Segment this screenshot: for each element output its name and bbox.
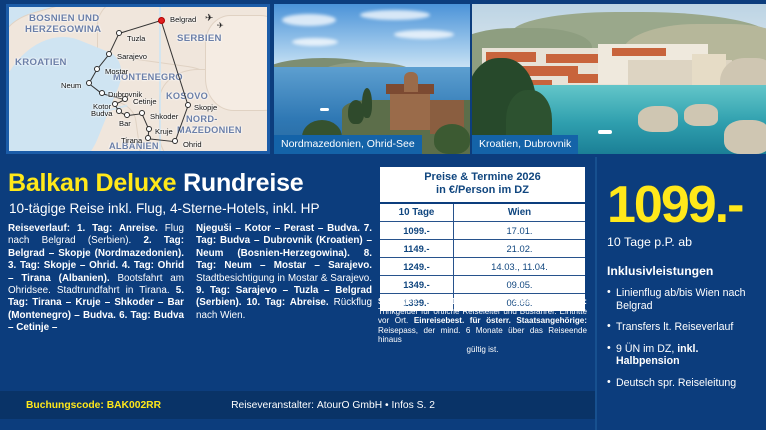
media-row: BOSNIEN UNDHERZEGOWINAKROATIENSERBIENMON…: [0, 0, 766, 157]
map-city-dot: [172, 138, 178, 144]
route-map: BOSNIEN UNDHERZEGOWINAKROATIENSERBIENMON…: [6, 4, 270, 154]
cell-price: 1149.-: [379, 240, 454, 258]
photo-rooftops: [612, 48, 666, 56]
cell-dates: 14.03., 11.04.: [454, 258, 586, 276]
cloud-shape: [282, 14, 336, 26]
photo-tree: [348, 100, 364, 124]
photo-church-tower: [404, 72, 418, 92]
map-country-label: BOSNIEN UND: [29, 13, 99, 24]
photo-rock-island: [724, 120, 766, 154]
fineprint: Sonstiges: MTZ: 10 Personen. Zusatzkoste…: [378, 297, 587, 355]
booking-code-value: BAK002RR: [107, 400, 161, 411]
airplane-icon: ✈: [217, 21, 224, 30]
operator-label: Reiseveranstalter:: [231, 400, 314, 411]
itinerary-column-2: Njeguši – Kotor – Perast – Budva. 7. Tag…: [196, 223, 372, 322]
table-title-row: Preise & Termine 2026 in €/Person im DZ: [379, 166, 586, 203]
column-header-days: 10 Tage: [379, 203, 454, 222]
page-subtitle: 10-tägige Reise inkl. Flug, 4-Sterne-Hot…: [9, 201, 320, 216]
map-city-label: Bar: [119, 119, 131, 128]
map-city-label: Mostar: [105, 67, 128, 76]
map-city-dot: [145, 135, 151, 141]
map-landmass: [205, 15, 270, 111]
map-city-dot: [86, 80, 92, 86]
table-title-line1: Preise & Termine 2026: [424, 171, 541, 183]
cell-price: 1349.-: [379, 276, 454, 294]
map-country-label: NORD-: [186, 114, 218, 124]
inclusions-title: Inklusivleistungen: [607, 264, 756, 278]
column-header-departure: Wien: [454, 203, 586, 222]
map-city-dot: [146, 126, 152, 132]
table-row: 1099.-17.01.: [379, 222, 586, 240]
map-country-label: KOSOVO: [166, 91, 208, 101]
inclusion-item: Transfers lt. Reiseverlauf: [607, 321, 756, 334]
photo-tree: [434, 124, 470, 154]
photo-rock-island: [638, 106, 678, 132]
map-city-dot: [99, 90, 105, 96]
map-city-label: Ohrid: [183, 140, 202, 149]
table-title-line2: in €/Person im DZ: [436, 184, 529, 196]
map-city-label: Tirana: [121, 136, 142, 145]
price-amount: 1099.-: [607, 179, 756, 231]
offer-body: Balkan Deluxe Rundreise 10-tägige Reise …: [0, 157, 595, 389]
cell-price: 1099.-: [379, 222, 454, 240]
booking-code: Buchungscode: BAK002RR: [26, 400, 161, 411]
title-highlight: Balkan Deluxe: [8, 169, 176, 197]
map-country-label: MAZEDONIEN: [177, 125, 242, 135]
cell-dates: 17.01.: [454, 222, 586, 240]
table-row: 1249.-14.03., 11.04.: [379, 258, 586, 276]
map-city-label: Cetinje: [133, 97, 157, 106]
map-city-dot: [122, 96, 128, 102]
map-city-dot: [94, 66, 100, 72]
map-city-label: Budva: [91, 109, 113, 118]
map-city-dot: [185, 102, 191, 108]
table-header-row: 10 Tage Wien: [379, 203, 586, 222]
tour-operator: Reiseveranstalter: AtourO GmbH • Infos S…: [231, 400, 435, 411]
price-table: Preise & Termine 2026 in €/Person im DZ …: [378, 165, 587, 313]
itinerary-columns: Reiseverlauf: 1. Tag: Anreise. Flug nach…: [8, 223, 372, 335]
map-country-label: SERBIEN: [177, 33, 222, 44]
map-city-dot: [112, 101, 118, 107]
booking-code-label: Buchungscode:: [26, 400, 104, 411]
itinerary-column-1: Reiseverlauf: 1. Tag: Anreise. Flug nach…: [8, 223, 184, 335]
inclusion-item: 9 ÜN im DZ, inkl. Halbpension: [607, 343, 756, 368]
map-city-dot: [116, 30, 122, 36]
airplane-icon: ✈: [205, 13, 213, 24]
cloud-shape: [394, 30, 454, 39]
map-country-label: KROATIEN: [15, 57, 67, 68]
map-city-label: Neum: [61, 81, 81, 90]
price-table-wrap: Preise & Termine 2026 in €/Person im DZ …: [378, 165, 587, 313]
map-canvas: BOSNIEN UNDHERZEGOWINAKROATIENSERBIENMON…: [9, 7, 267, 151]
advertisement-page: BOSNIEN UNDHERZEGOWINAKROATIENSERBIENMON…: [0, 0, 766, 430]
photo-caption: Kroatien, Dubrovnik: [472, 135, 578, 154]
map-city-dot: [158, 17, 165, 24]
cell-dates: 21.02.: [454, 240, 586, 258]
photo-ohrid: Nordmazedonien, Ohrid-See: [274, 4, 470, 154]
cloud-shape: [292, 38, 338, 46]
photo-boat: [320, 108, 329, 111]
cell-dates: 09.05.: [454, 276, 586, 294]
inclusions-list: Linienflug ab/bis Wien nach BelgradTrans…: [607, 287, 756, 390]
photo-dubrovnik: Kroatien, Dubrovnik: [472, 4, 766, 154]
map-city-label: Belgrad: [170, 15, 196, 24]
price-panel: 1099.- 10 Tage p.P. ab Inklusivleistunge…: [595, 157, 766, 430]
map-country-label: HERZEGOWINA: [25, 24, 101, 35]
inclusion-item: Linienflug ab/bis Wien nach Belgrad: [607, 287, 756, 312]
map-city-label: Kruje: [155, 127, 173, 136]
inclusion-item: Deutsch spr. Reiseleitung: [607, 377, 756, 390]
map-city-dot: [124, 112, 130, 118]
photo-church: [390, 90, 430, 130]
page-title: Balkan Deluxe Rundreise: [8, 169, 304, 198]
booking-bar: Buchungscode: BAK002RR Reiseveranstalter…: [0, 391, 595, 419]
table-title: Preise & Termine 2026 in €/Person im DZ: [379, 166, 586, 203]
map-city-label: Tuzla: [127, 34, 145, 43]
table-row: 1149.-21.02.: [379, 240, 586, 258]
photo-boat: [598, 130, 612, 134]
map-city-label: Sarajevo: [117, 52, 147, 61]
map-city-dot: [106, 51, 112, 57]
title-rest: Rundreise: [183, 169, 303, 197]
photo-caption: Nordmazedonien, Ohrid-See: [274, 135, 422, 154]
operator-value: AtourO GmbH • Infos S. 2: [317, 400, 435, 411]
cell-price: 1249.-: [379, 258, 454, 276]
map-city-dot: [116, 108, 122, 114]
cloud-shape: [360, 10, 430, 20]
map-city-dot: [139, 110, 145, 116]
map-city-label: Shkoder: [150, 112, 178, 121]
map-city-label: Skopje: [194, 103, 217, 112]
price-note: 10 Tage p.P. ab: [607, 235, 756, 249]
photo-rock-island: [684, 104, 718, 126]
table-row: 1349.-09.05.: [379, 276, 586, 294]
